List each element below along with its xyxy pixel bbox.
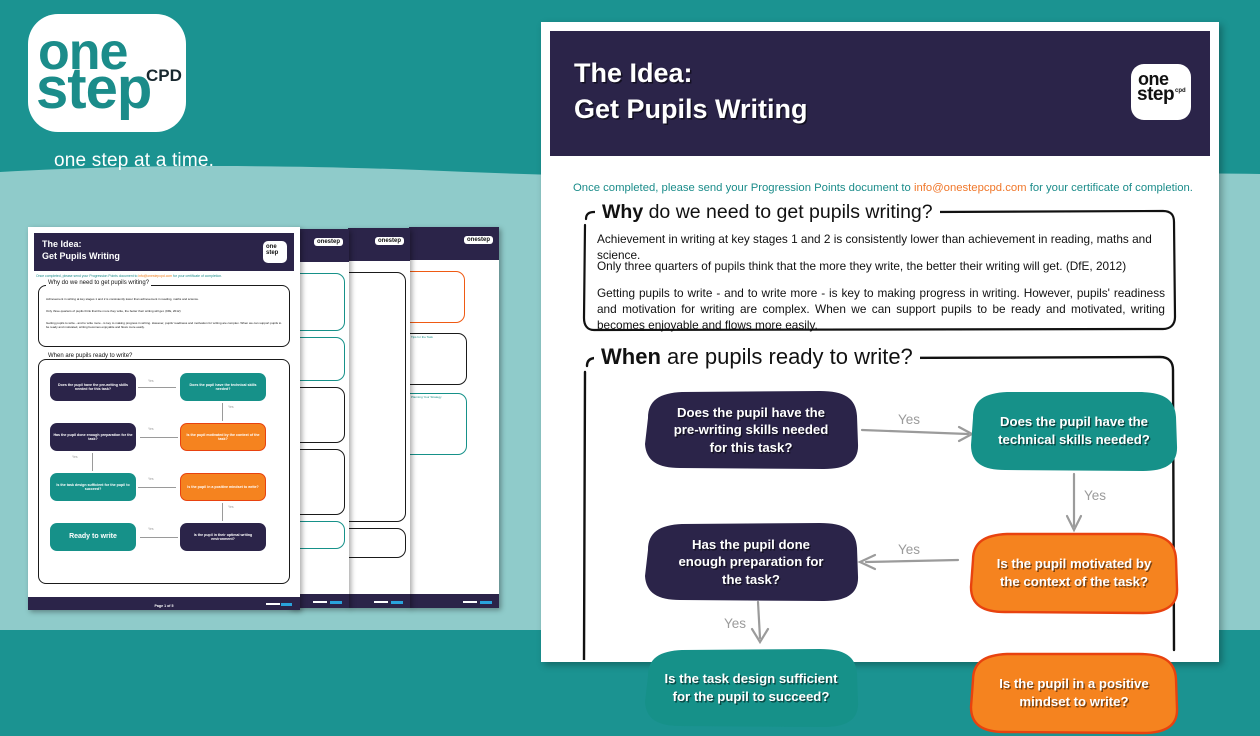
flow-node-technical-skills[interactable]: Does the pupil have the technical skills…: [967, 388, 1181, 474]
flow-node-1-line1: Does the pupil have the: [677, 405, 825, 420]
thumb1-title: The Idea: Get Pupils Writing: [42, 238, 120, 262]
thumbnail-page-1[interactable]: The Idea: Get Pupils Writing onestep Onc…: [28, 227, 300, 610]
brand-block: one step CPD one step at a time.: [28, 14, 498, 164]
thumbnail-page-3[interactable]: onestep: [348, 228, 410, 608]
notice-after-text: for your certificate of completion.: [1027, 182, 1193, 194]
flow-node-pre-writing-skills[interactable]: Does the pupil have the pre-writing skil…: [640, 388, 862, 472]
thumb1-why-p1: Achievement in writing at key stages 1 a…: [46, 297, 282, 301]
notice-before-text: Once completed, please send your Progres…: [573, 182, 914, 194]
thumb1-node-3: Is the pupil motivated by the context of…: [180, 423, 266, 451]
flow-node-5-text: Is the task design sufficient for the pu…: [640, 646, 862, 730]
why-heading: Why do we need to get pupils writing?: [595, 203, 940, 223]
why-panel: Why do we need to get pupils writing? Ac…: [578, 205, 1179, 335]
flow-node-1-text: Does the pupil have the pre-writing skil…: [640, 388, 862, 472]
thumb3-text: [350, 284, 394, 289]
logo-step-text: step: [36, 60, 151, 118]
document-page[interactable]: The Idea: Get Pupils Writing one step cp…: [541, 22, 1219, 662]
flow-node-6-line2: mindset to write?: [1019, 694, 1128, 709]
thumb4-logo: onestep: [464, 236, 493, 244]
when-heading: When are pupils ready to write?: [594, 346, 920, 368]
thumb4-text-1: [411, 293, 441, 298]
header-onestep-logo: one step cpd: [1131, 64, 1191, 120]
thumb1-logo: onestep: [263, 241, 287, 263]
thumb1-node-2: Does the pupil have the technical skills…: [180, 373, 266, 401]
thumb3-panel-2: [348, 528, 406, 558]
page-title-line2: Get Pupils Writing: [574, 92, 808, 128]
header-logo-cpd: cpd: [1175, 88, 1186, 94]
why-paragraph-3: Getting pupils to write - and to write m…: [597, 286, 1165, 334]
flow-node-positive-mindset[interactable]: Is the pupil in a positive mindset to wr…: [967, 650, 1181, 736]
thumb1-why-panel: [38, 285, 290, 347]
page-title: The Idea: Get Pupils Writing: [574, 56, 808, 128]
notice-email-link[interactable]: info@onestepcpd.com: [914, 182, 1027, 194]
flow-node-1-line2: pre-writing skills needed: [674, 422, 829, 437]
thumb1-arrow-4: [92, 453, 93, 471]
flow-node-enough-preparation[interactable]: Has the pupil done enough preparation fo…: [640, 520, 862, 604]
header-logo-step: step: [1137, 85, 1174, 104]
why-heading-rest: do we need to get pupils writing?: [643, 201, 932, 223]
when-panel: When are pupils ready to write?: [578, 350, 1179, 660]
thumb1-header: The Idea: Get Pupils Writing onestep: [34, 233, 294, 271]
thumb1-arrow-5: [138, 487, 176, 488]
thumb1-arrow-2: [222, 403, 223, 421]
thumb1-notice-email: info@onestepcpd.com: [138, 274, 172, 278]
thumbnail-fan: onestep Tips for the Task Planning Your …: [0, 218, 540, 618]
thumb1-node-7: Is the pupil in their optimal writing en…: [180, 523, 266, 551]
thumb1-footer-mark-blue: [281, 603, 292, 606]
flow-node-3-line1: Is the pupil motivated by: [997, 556, 1152, 571]
yes-label-4: Yes: [724, 616, 746, 631]
flow-node-2-line2: technical skills needed?: [998, 432, 1150, 447]
flow-node-5-line2: for the pupil to succeed?: [673, 689, 830, 704]
why-heading-bold: Why: [602, 201, 643, 223]
thumb1-yes-3: Yes: [148, 427, 154, 431]
flow-node-4-text: Has the pupil done enough preparation fo…: [640, 520, 862, 604]
when-heading-rest: are pupils ready to write?: [661, 344, 913, 369]
thumb1-yes-6: Yes: [228, 505, 234, 509]
flow-node-2-text: Does the pupil have the technical skills…: [967, 388, 1181, 474]
thumb1-footer-mark-white: [266, 603, 280, 605]
document-header: The Idea: Get Pupils Writing one step cp…: [550, 31, 1210, 156]
thumb1-when-heading: When are pupils ready to write?: [46, 353, 134, 359]
flow-node-3-line2: the context of the task?: [1000, 574, 1148, 589]
thumb2-logo: onestep: [314, 238, 343, 246]
thumb1-node-8: Ready to write: [50, 523, 136, 551]
thumb1-notice: Once completed, please send your Progres…: [36, 274, 292, 278]
thumb4-footer-mark-white: [463, 601, 477, 603]
thumb1-notice-before: Once completed, please send your Progres…: [36, 274, 138, 278]
thumb4-panel-3: [409, 393, 467, 455]
flow-node-1-line3: for this task?: [710, 440, 793, 455]
flow-node-3-text: Is the pupil motivated by the context of…: [967, 530, 1181, 616]
thumb4-panel-2: [409, 333, 467, 385]
flow-node-motivated-context[interactable]: Is the pupil motivated by the context of…: [967, 530, 1181, 616]
thumb4-footer-mark-blue: [480, 601, 492, 604]
yes-label-3: Yes: [898, 542, 920, 557]
thumb3-header: onestep: [348, 228, 410, 261]
thumb3-footer-mark-white: [374, 601, 388, 603]
thumb4-header: onestep: [409, 227, 499, 260]
thumb1-node-5: Is the task design sufficient for the pu…: [50, 473, 136, 501]
thumb1-arrow-3: [140, 437, 178, 438]
flow-node-4-line1: Has the pupil done: [692, 537, 810, 552]
thumb1-logo-text: onestep: [266, 244, 278, 257]
thumb1-why-p3: Getting pupils to write - and to write m…: [46, 321, 282, 330]
thumb1-node-6: Is the pupil in a positive mindset to wr…: [180, 473, 266, 501]
flow-node-task-design[interactable]: Is the task design sufficient for the pu…: [640, 646, 862, 730]
flow-node-4-line2: enough preparation for: [678, 554, 823, 569]
completion-notice: Once completed, please send your Progres…: [573, 182, 1193, 194]
thumb3-logo: onestep: [375, 237, 404, 245]
thumb4-footer: [409, 594, 499, 608]
thumb1-why-p2: Only three quarters of pupils think that…: [46, 309, 282, 313]
thumb1-notice-after: for your certificate of completion.: [172, 274, 222, 278]
thumb1-title-line2: Get Pupils Writing: [42, 250, 120, 262]
thumb1-yes-5: Yes: [148, 477, 154, 481]
thumb1-arrow-7: [140, 537, 178, 538]
thumb1-arrow-6: [222, 503, 223, 521]
thumb1-why-heading: Why do we need to get pupils writing?: [46, 280, 151, 286]
thumb1-footer-logo: [266, 602, 292, 607]
yes-label-2: Yes: [1084, 488, 1106, 503]
thumb3-footer: [348, 594, 410, 608]
thumb1-page-number: Page 1 of 5: [28, 604, 300, 608]
when-heading-bold: When: [601, 344, 661, 369]
thumb1-node-4: Has the pupil done enough preparation fo…: [50, 423, 136, 451]
flow-node-6-text: Is the pupil in a positive mindset to wr…: [967, 650, 1181, 736]
logo-cpd-text: CPD: [146, 66, 182, 86]
thumb1-title-line1: The Idea:: [42, 238, 120, 250]
thumb4-heading-2: Planning Your Strategy: [411, 395, 455, 400]
thumb1-yes-7: Yes: [148, 527, 154, 531]
thumb4-heading-1: Tips for the Task: [411, 335, 451, 340]
thumb1-yes-4: Yes: [72, 455, 78, 459]
onestep-logo-tile: one step CPD: [28, 14, 186, 132]
thumb3-panel: [348, 272, 406, 522]
thumb1-yes-1: Yes: [148, 379, 154, 383]
flow-node-6-line1: Is the pupil in a positive: [999, 676, 1148, 691]
thumbnail-page-4[interactable]: onestep Tips for the Task Planning Your …: [409, 227, 499, 608]
brand-tagline: one step at a time.: [54, 150, 214, 172]
thumb1-node-1: Does the pupil have the pre-writing skil…: [50, 373, 136, 401]
why-paragraph-2: Only three quarters of pupils think that…: [597, 259, 1167, 275]
flow-node-5-line1: Is the task design sufficient: [665, 671, 838, 686]
thumb2-footer-mark-white: [313, 601, 327, 603]
flow-node-4-line3: the task?: [722, 572, 780, 587]
thumb1-arrow-1: [138, 387, 176, 388]
thumb1-yes-2: Yes: [228, 405, 234, 409]
thumb3-footer-mark-blue: [391, 601, 403, 604]
page-title-line1: The Idea:: [574, 56, 808, 92]
thumb2-footer-mark-blue: [330, 601, 342, 604]
flow-node-2-line1: Does the pupil have the: [1000, 414, 1148, 429]
yes-label-1: Yes: [898, 412, 920, 427]
